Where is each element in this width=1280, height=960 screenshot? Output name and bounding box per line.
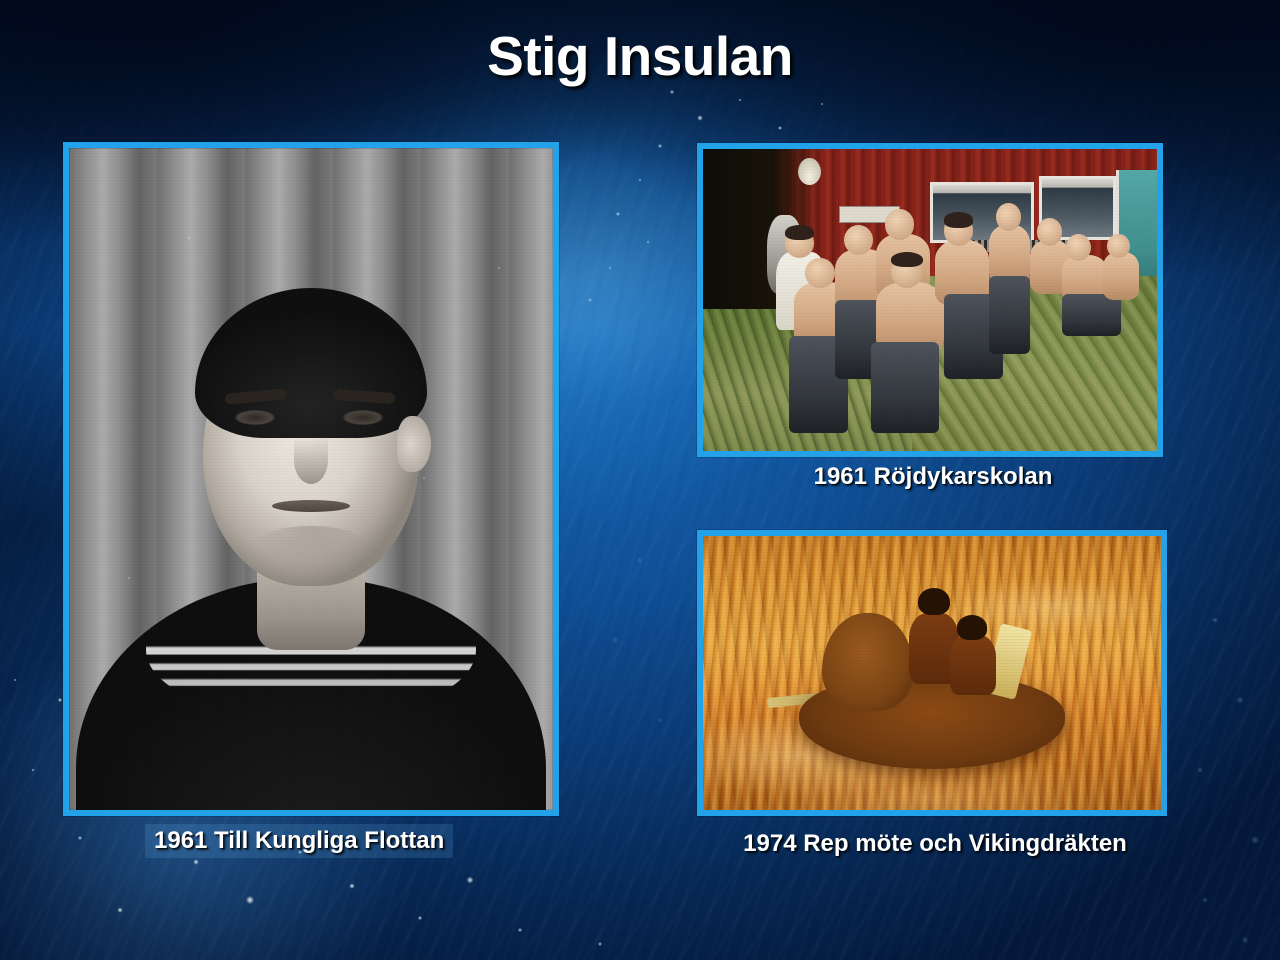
divers-head-3 — [844, 225, 874, 255]
divers-head-8 — [1037, 218, 1062, 245]
portrait-eye-right — [343, 410, 383, 425]
photo-rubber-boat — [697, 530, 1167, 816]
portrait-nose — [294, 436, 328, 484]
caption-rubber-boat: 1974 Rep möte och Vikingdräkten — [700, 830, 1170, 858]
divers-head-2 — [805, 258, 835, 288]
portrait-eye-left — [235, 410, 275, 425]
divers-pants-9 — [1062, 294, 1121, 336]
slide-title: Stig Insulan — [0, 24, 1280, 88]
photo-diver-school-group-image — [703, 149, 1157, 451]
divers-porch-lamp — [798, 158, 821, 185]
divers-head-10 — [1107, 234, 1130, 258]
divers-head-4 — [885, 209, 915, 239]
caption-diver-school-group: 1961 Röjdykarskolan — [700, 463, 1166, 491]
photo-rubber-boat-image — [703, 536, 1161, 810]
photo-sailor-portrait-image — [69, 148, 553, 810]
divers-hair-5 — [891, 252, 923, 267]
portrait-chin-shadow — [251, 526, 371, 570]
portrait-ear — [397, 416, 431, 472]
photo-diver-school-group — [697, 143, 1163, 457]
divers-pants-5 — [871, 342, 939, 433]
photo-sailor-portrait — [63, 142, 559, 816]
divers-head-9 — [1066, 234, 1091, 261]
divers-hair-1 — [785, 225, 815, 240]
presentation-slide: Stig Insulan 1961 Till Kungliga Flottan — [0, 0, 1280, 960]
boat-grain-overlay — [703, 536, 1161, 810]
divers-hair-6 — [944, 212, 974, 227]
divers-figure-10 — [1103, 252, 1139, 300]
caption-sailor-portrait: 1961 Till Kungliga Flottan — [145, 824, 453, 858]
portrait-mouth — [272, 500, 350, 512]
divers-head-7 — [996, 203, 1021, 230]
divers-pants-7 — [989, 276, 1030, 355]
